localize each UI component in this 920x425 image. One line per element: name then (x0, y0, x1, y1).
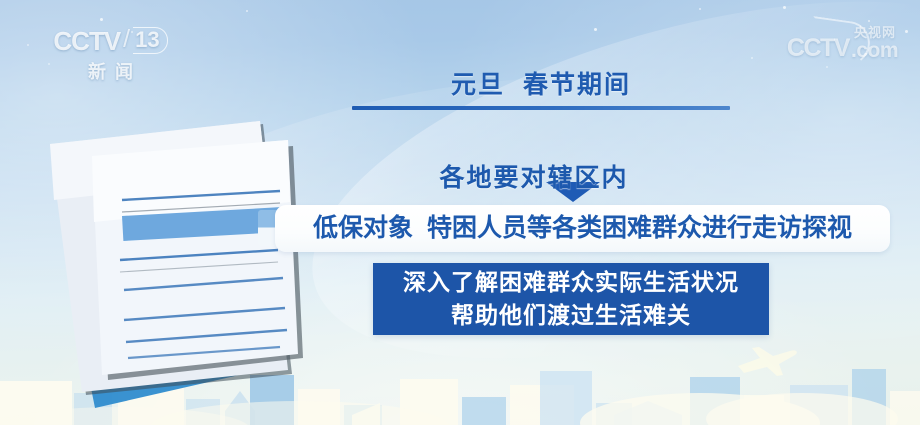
cctv-channel-name: 新闻 (48, 58, 173, 84)
sparkle-dot (246, 10, 248, 12)
highlight-pill: 低保对象 特困人员等各类困难群众进行走访探视 (275, 205, 890, 252)
watermark-chinese-label: 央视网 (854, 22, 896, 41)
title-underline (352, 106, 730, 110)
sparkle-dot (826, 66, 828, 68)
content-line-1: 各地要对辖区内 (0, 158, 920, 194)
cctv-logo-slash: / (123, 27, 130, 52)
cctv-channel-number: 13 (133, 27, 167, 54)
page-title: 元旦 春节期间 (352, 70, 730, 100)
blue-box-line-2: 帮助他们渡过生活难关 (451, 299, 691, 332)
blue-box-line-1: 深入了解困难群众实际生活状况 (403, 266, 739, 299)
sparkle-dot (751, 57, 753, 59)
cctv13-channel-logo: CCTV / 13 新闻 (48, 27, 173, 84)
highlight-pill-text: 低保对象 特困人员等各类困难群众进行走访探视 (313, 216, 852, 241)
sparkle-dot (100, 18, 103, 21)
sparkle-dot (594, 28, 597, 31)
cctv-logo-row: CCTV / 13 (48, 27, 173, 54)
sparkle-dot (905, 30, 908, 33)
cctv-com-watermark: 央视网 CCTV .com (787, 36, 898, 61)
sparkle-dot (783, 6, 786, 9)
sparkle-dot (699, 8, 701, 10)
broadcast-graphic-stage: CCTV / 13 新闻 央视网 CCTV .com 元旦 春节期间 各地要对辖… (0, 0, 920, 425)
cctv-wordmark: CCTV (53, 28, 120, 54)
headline-block: 元旦 春节期间 (352, 70, 730, 110)
airplane-icon (730, 345, 800, 379)
emphasis-blue-box: 深入了解困难群众实际生活状况 帮助他们渡过生活难关 (373, 263, 769, 335)
sparkle-dot (27, 44, 29, 46)
content-line-1-text: 各地要对辖区内 (291, 164, 628, 192)
